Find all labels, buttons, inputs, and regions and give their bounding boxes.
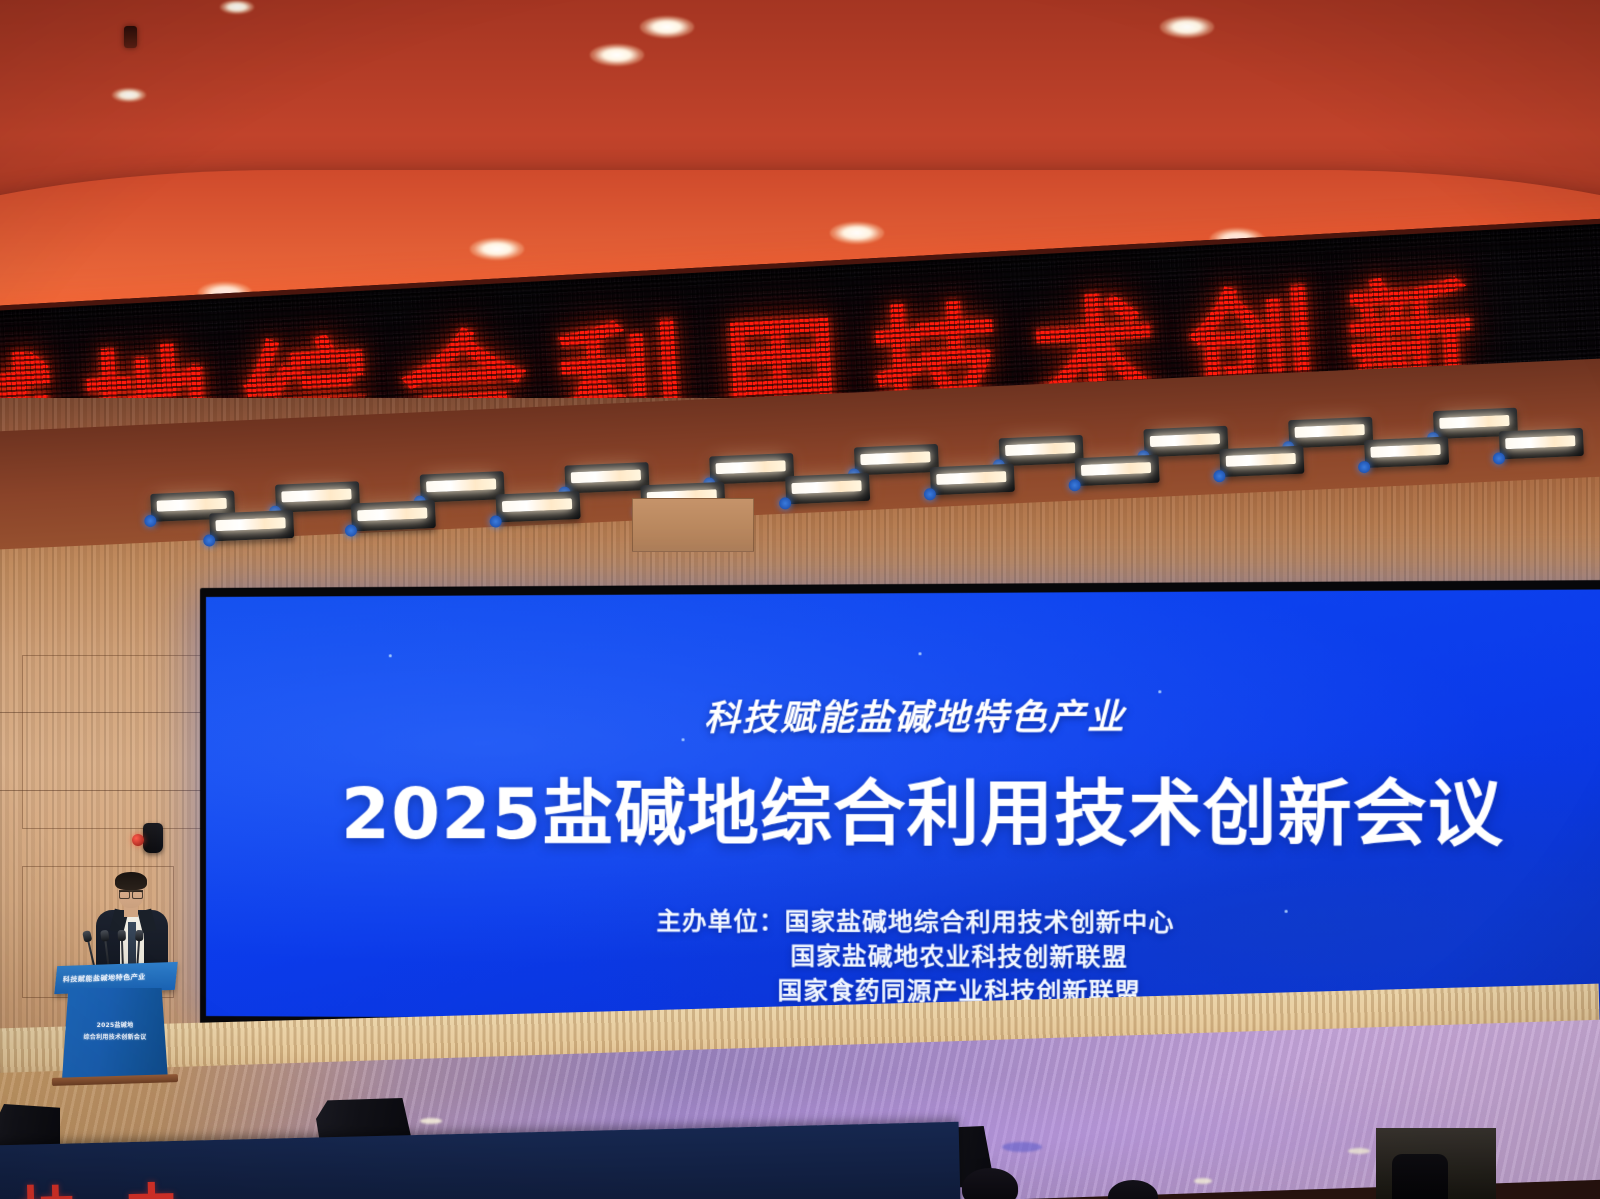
slide-title: 2025盐碱地综合利用技术创新会议 <box>341 756 1504 860</box>
stage-lamp <box>999 435 1084 466</box>
floor-light-reflection <box>1002 1142 1042 1152</box>
organizer-line: 国家盐碱地农业科技创新联盟 <box>656 939 1174 976</box>
stage-lamp <box>275 481 360 512</box>
wall-panel-seam <box>22 655 224 829</box>
front-banner-text: 协办 <box>17 1162 231 1199</box>
podium: 2025盐碱地 综合利用技术创新会议 <box>62 988 168 1080</box>
floor-light-reflection <box>1348 1148 1370 1154</box>
stage-lamp <box>785 473 870 504</box>
podium-top-label: 科技赋能盐碱地特色产业 <box>62 971 167 984</box>
ceiling-downlight <box>590 44 644 66</box>
main-led-screen: 科技赋能盐碱地特色产业 2025盐碱地综合利用技术创新会议 主办单位：国家盐碱地… <box>206 589 1600 1024</box>
organizer-line: 主办单位：国家盐碱地综合利用技术创新中心 <box>656 904 1174 940</box>
ceiling-downlight <box>640 16 694 38</box>
stage-lamp <box>1075 455 1160 486</box>
stage-lamp <box>564 462 649 493</box>
wall-camera-icon <box>143 823 163 853</box>
podium-label-line2: 综合利用技术创新会议 <box>83 1032 146 1041</box>
ceiling-downlight <box>112 88 146 102</box>
stage-lamp <box>351 500 436 531</box>
main-led-screen-frame: 科技赋能盐碱地特色产业 2025盐碱地综合利用技术创新会议 主办单位：国家盐碱地… <box>200 580 1600 1034</box>
ceiling-downlight <box>220 0 254 14</box>
slide-subtitle: 科技赋能盐碱地特色产业 <box>704 688 1126 741</box>
ceiling-downlight <box>1160 16 1214 38</box>
stage-lamp <box>420 471 505 502</box>
camera-indicator-light-icon <box>132 834 144 846</box>
audience-silhouette <box>1392 1154 1448 1199</box>
stage-lamp <box>930 464 1015 495</box>
stage-lamp <box>209 510 294 541</box>
wall-seam <box>0 790 205 791</box>
stage-lamp <box>1499 428 1584 459</box>
stage-lamp <box>1288 417 1373 448</box>
stage-lamp <box>854 444 939 475</box>
slide-organizers: 主办单位：国家盐碱地综合利用技术创新中心 国家盐碱地农业科技创新联盟 国家食药同… <box>656 904 1174 1010</box>
floor-light-reflection <box>1194 1178 1212 1184</box>
ceiling-downlight <box>470 238 524 260</box>
conference-stage-photo: 碱地综合利用技术创新 <box>0 0 1600 1199</box>
wall-seam <box>0 712 205 713</box>
stage-lamp <box>496 491 581 522</box>
stage-lamp <box>709 453 794 484</box>
speaker-glasses-icon <box>119 890 143 898</box>
podium-label-line1: 2025盐碱地 <box>97 1020 134 1029</box>
floor-light-reflection <box>420 1118 442 1124</box>
stage-lamp <box>1364 437 1449 468</box>
ceiling-fixture <box>124 26 137 48</box>
stage-lamp <box>1219 446 1304 477</box>
slide-content: 科技赋能盐碱地特色产业 2025盐碱地综合利用技术创新会议 主办单位：国家盐碱地… <box>206 589 1600 1024</box>
stage-lamp <box>1143 426 1228 457</box>
ceiling-downlight <box>830 222 884 244</box>
wall-access-panel <box>632 498 754 552</box>
speaker-hair <box>115 872 147 890</box>
